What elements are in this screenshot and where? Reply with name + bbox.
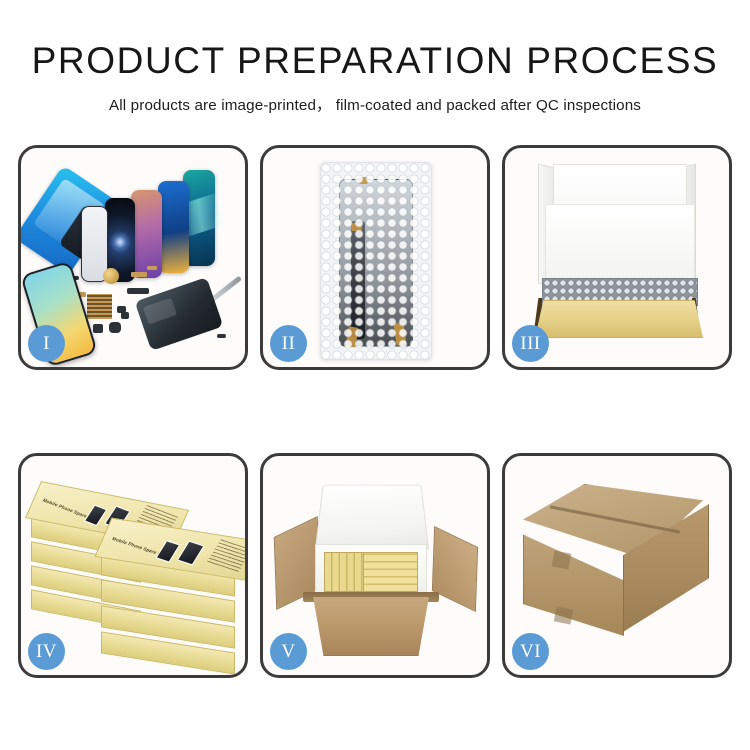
step-badge-4: IV — [28, 633, 65, 670]
process-step-panel-2: II — [260, 145, 490, 370]
camera-lens-icon — [103, 268, 119, 284]
page-subtitle: All products are image-printed， film-coa… — [0, 93, 750, 115]
bubble-wrap-bag-icon — [320, 162, 432, 360]
carton-front-icon — [305, 596, 437, 656]
carton-tape-icon — [554, 607, 574, 625]
process-step-panel-5: V — [260, 453, 490, 678]
step-badge-3: III — [512, 325, 549, 362]
phone-purple-icon — [131, 190, 162, 278]
gold-connector-icon — [131, 272, 147, 277]
foam-box-lid-icon — [315, 485, 429, 550]
process-step-grid: I II — [18, 145, 732, 678]
screw-icon — [217, 334, 226, 338]
step-badge-5: V — [270, 633, 307, 670]
kraft-box-front-icon — [535, 300, 703, 338]
spare-part-icon — [121, 312, 129, 319]
spare-part-icon — [109, 322, 121, 333]
process-step-panel-1: I — [18, 145, 248, 370]
step-badge-6: VI — [512, 633, 549, 670]
header: PRODUCT PREPARATION PROCESS All products… — [0, 0, 750, 115]
packed-retail-boxes-icon — [363, 552, 418, 592]
page-title: PRODUCT PREPARATION PROCESS — [0, 40, 750, 82]
foam-sheet-icon — [545, 204, 695, 282]
gold-connector-icon — [147, 266, 157, 270]
phone-blue-icon — [158, 181, 189, 273]
chip-array-icon — [87, 294, 112, 319]
process-step-panel-6: VI — [502, 453, 732, 678]
step-badge-2: II — [270, 325, 307, 362]
box-screen-image-icon — [177, 541, 205, 566]
bubble-texture-overlay — [321, 163, 431, 359]
carton-tape-icon — [552, 551, 572, 570]
box-spec-text-block — [207, 539, 248, 572]
step-badge-1: I — [28, 325, 65, 362]
spare-part-icon — [93, 324, 103, 333]
process-step-panel-3: III — [502, 145, 732, 370]
process-step-panel-4: Mobile Phone Spare Parts Mobile Phone Sp… — [18, 453, 248, 678]
product-preparation-infographic: PRODUCT PREPARATION PROCESS All products… — [0, 0, 750, 750]
flex-cable-icon — [127, 288, 149, 294]
